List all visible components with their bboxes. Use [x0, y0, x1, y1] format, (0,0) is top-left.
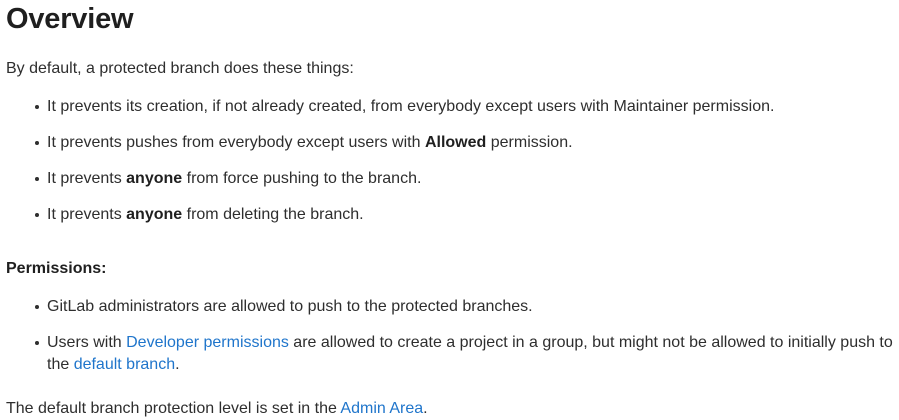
- footer-text-tail: .: [423, 400, 427, 417]
- emphasis-text: anyone: [126, 170, 182, 187]
- list-item-text: It prevents its creation, if not already…: [47, 98, 774, 115]
- list-item-text: It prevents: [47, 170, 126, 187]
- emphasis-text: Allowed: [425, 134, 486, 151]
- list-item-text: Users with: [47, 334, 126, 351]
- list-item: Users with Developer permissions are all…: [6, 332, 893, 376]
- list-item-text: It prevents pushes from everybody except…: [47, 134, 425, 151]
- documentation-content: Overview By default, a protected branch …: [0, 0, 899, 420]
- list-item-text-tail: permission.: [486, 134, 572, 151]
- branch-behavior-list: It prevents its creation, if not already…: [6, 96, 893, 226]
- list-item-text-tail: from force pushing to the branch.: [182, 170, 421, 187]
- developer-permissions-link[interactable]: Developer permissions: [126, 334, 289, 351]
- admin-area-link[interactable]: Admin Area: [340, 400, 423, 417]
- list-item: GitLab administrators are allowed to pus…: [6, 296, 893, 318]
- list-item: It prevents anyone from force pushing to…: [6, 168, 893, 190]
- list-item-text-tail: from deleting the branch.: [182, 206, 363, 223]
- list-item-text: GitLab administrators are allowed to pus…: [47, 298, 533, 315]
- list-item: It prevents pushes from everybody except…: [6, 132, 893, 154]
- default-branch-link[interactable]: default branch: [74, 356, 175, 373]
- permissions-heading: Permissions:: [6, 258, 893, 280]
- footer-paragraph: The default branch protection level is s…: [6, 398, 893, 420]
- list-item: It prevents anyone from deleting the bra…: [6, 204, 893, 226]
- list-item-text: It prevents: [47, 206, 126, 223]
- permissions-list: GitLab administrators are allowed to pus…: [6, 296, 893, 376]
- footer-text: The default branch protection level is s…: [6, 400, 340, 417]
- intro-paragraph: By default, a protected branch does thes…: [6, 58, 893, 80]
- emphasis-text: anyone: [126, 206, 182, 223]
- list-item-text-tail: .: [175, 356, 179, 373]
- page-title: Overview: [6, 0, 893, 36]
- list-item: It prevents its creation, if not already…: [6, 96, 893, 118]
